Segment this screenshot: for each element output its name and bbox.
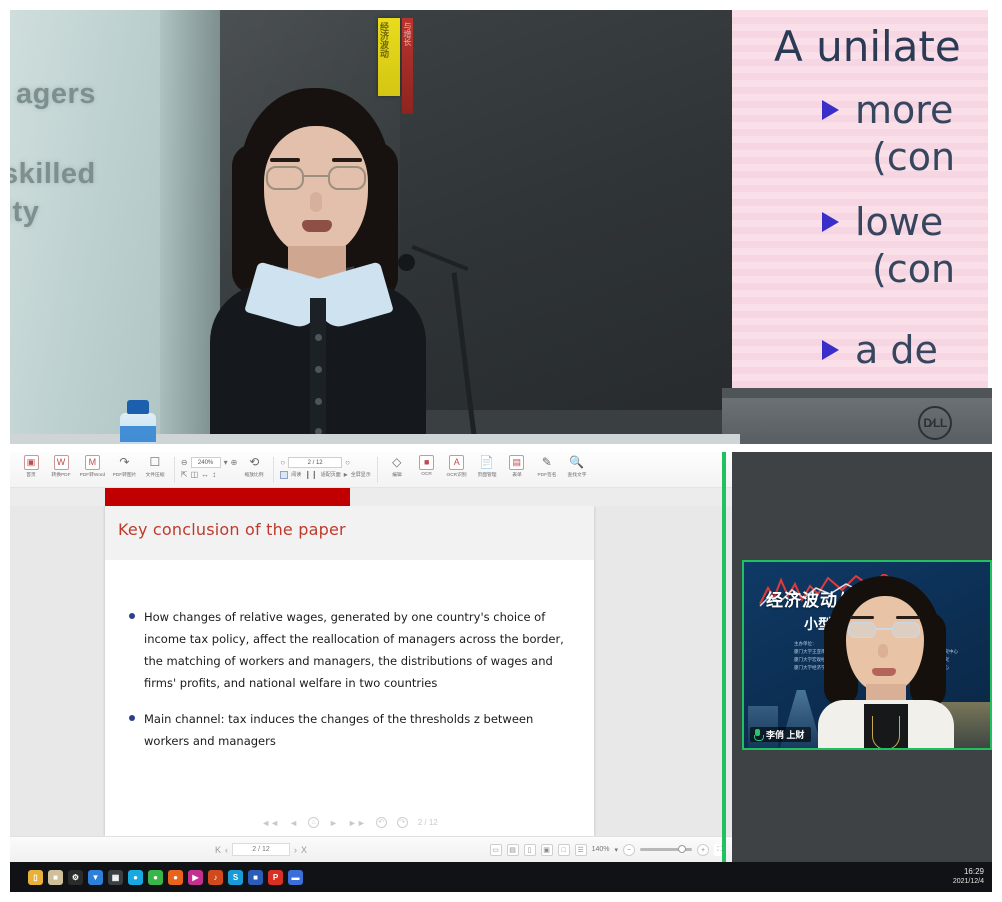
glasses-icon <box>848 622 922 638</box>
video-player-icon[interactable]: ▶ <box>188 870 203 885</box>
reflow-icon[interactable]: ▸ <box>344 469 348 480</box>
slide-bullet-list: How changes of relative wages, generated… <box>129 606 581 766</box>
toolbar-convert-pdf[interactable]: W 转换PDF <box>46 455 76 478</box>
slide-page-indicator: 2 / 12 <box>418 818 438 827</box>
view-mode-checkbox[interactable] <box>280 471 288 479</box>
nose <box>878 644 888 658</box>
security-icon[interactable]: ▼ <box>88 870 103 885</box>
page-input[interactable]: 2 / 12 <box>288 457 342 468</box>
facing-page-button[interactable]: ▯ <box>524 844 536 856</box>
mouth <box>872 668 896 676</box>
projection-edge <box>988 10 992 402</box>
toolbar-edit[interactable]: ◇ 编辑 <box>382 455 412 478</box>
slide-bullet: Main channel: tax induces the changes of… <box>129 708 581 752</box>
toolbar-form[interactable]: ▤ 表单 <box>502 455 532 478</box>
slide-bullet: How changes of relative wages, generated… <box>129 606 581 694</box>
glasses-bridge <box>304 175 328 177</box>
microphone-head-icon <box>398 254 415 271</box>
eyebrow-left <box>850 616 874 619</box>
triangle-bullet-icon <box>822 100 839 120</box>
nav-home-icon[interactable]: ⌂ <box>308 817 319 828</box>
next-page-button[interactable]: › <box>294 845 297 855</box>
single-page-button[interactable]: ▭ <box>490 844 502 856</box>
speaker-avatar <box>814 576 954 750</box>
toolbar-pdf-to-word[interactable]: M PDF转Word <box>76 455 109 478</box>
participant-name: 李俏 上财 <box>766 728 805 741</box>
pdf-reader-window: ▣ 首页 W 转换PDF M PDF转Word ↷ PDF转图片 ☐ 文件压 <box>10 452 732 862</box>
projected-bullet-3: a de <box>822 328 938 372</box>
nav-prev-icon[interactable]: ◄ <box>289 818 298 828</box>
projected-bullet-1-text: more <box>855 88 953 132</box>
toolbar-page-manage[interactable]: 📄 页面管理 <box>472 455 502 478</box>
fit-actual-icon[interactable]: ⇱ <box>181 469 188 480</box>
zoom-input[interactable]: 240% <box>191 457 221 468</box>
toolbar-compress-label: 文件压缩 <box>145 471 164 478</box>
toolbar-search[interactable]: 🔍 查找文字 <box>562 455 592 478</box>
nav-redo-icon[interactable]: ↷ <box>397 817 408 828</box>
slide-title: Key conclusion of the paper <box>118 520 346 539</box>
facing-continuous-button[interactable]: ▣ <box>541 844 553 856</box>
eyebrow-right <box>332 158 362 162</box>
ocr-icon: ■ <box>419 455 434 470</box>
face <box>264 126 368 254</box>
pdf-status-bar: K ‹ 2 / 12 › Х ▭ ▤ ▯ ▣ □ ☰ 140% ▾ − <box>10 836 732 862</box>
status-page-controls: K ‹ 2 / 12 › Х <box>215 843 307 856</box>
page-icon: 📄 <box>479 455 494 470</box>
active-speaker-video[interactable]: 经济波动与增长 小型研讨会2021 主办单位： 厦门大学王亚南经济研究院 厦门大… <box>742 560 992 750</box>
button-dot <box>315 398 322 405</box>
chrome-icon[interactable]: ● <box>148 870 163 885</box>
screenshare-green-edge <box>722 452 726 862</box>
toolbar-sign[interactable]: ✎ PDF签名 <box>532 455 562 478</box>
slide-page-nav: ◄◄ ◄ ⌂ ► ►► ↶ ↷ 2 / 12 <box>105 817 594 828</box>
skype-icon[interactable]: S <box>228 870 243 885</box>
view-mode-label: 阅读 <box>291 471 301 478</box>
toolbar-compress[interactable]: ☐ 文件压缩 <box>140 455 170 478</box>
pdf-to-img-icon: ↷ <box>117 455 132 470</box>
wall-projection-text-2: skilled <box>10 158 96 191</box>
slide-bullet-text: Main channel: tax induces the changes of… <box>144 708 581 752</box>
screenshot-root: agers skilled ity 经济波动 与增长 A unilate mor… <box>0 0 1002 902</box>
taskbar-icon-list: ▯ ■ ⚙ ▼ ▦ ● ● ● ▶ ♪ S ■ P ▬ <box>28 870 303 885</box>
lens-left <box>848 622 876 638</box>
button-dot <box>315 366 322 373</box>
projected-bullet-2-sub: (con <box>872 247 955 291</box>
search-icon: 🔍 <box>569 455 584 470</box>
toolbar-form-label: 表单 <box>512 471 522 478</box>
nose <box>310 192 322 212</box>
document-viewport[interactable]: Key conclusion of the paper How changes … <box>10 506 732 836</box>
zoom-out-icon[interactable]: ⊖ <box>181 457 188 468</box>
toolbar-edit-label: 编辑 <box>392 471 402 478</box>
prev-page-button[interactable]: ‹ <box>225 845 228 855</box>
projected-slide-title: A unilate <box>774 22 961 71</box>
form-icon: ▤ <box>509 455 524 470</box>
eyebrow-left <box>270 158 300 162</box>
dell-logo-icon: D∕LL <box>918 406 952 440</box>
office-icon[interactable]: ■ <box>248 870 263 885</box>
word-convert-icon: W <box>54 455 69 470</box>
status-page-input[interactable]: 2 / 12 <box>232 843 290 856</box>
projected-bullet-1: more <box>822 88 953 132</box>
settings-icon[interactable]: ⚙ <box>68 870 83 885</box>
toolbar-divider <box>174 457 175 483</box>
fit-width-button[interactable]: ☰ <box>575 844 587 856</box>
nav-first-icon[interactable]: ◄◄ <box>261 818 279 828</box>
chevron-down-icon[interactable]: ▾ <box>224 457 228 468</box>
toolbar-page-group: ○ 2 / 12 ○ 阅读 ❙❙ 适配页面 ▸ 全屏显示 <box>278 455 372 480</box>
red-highlight-band <box>105 488 350 506</box>
microphone-icon <box>753 729 762 741</box>
projected-bullet-2-text: lowe <box>855 200 943 244</box>
first-page-button[interactable]: K <box>215 845 221 855</box>
fit-height-icon[interactable]: ↕ <box>212 469 216 480</box>
lecture-room-photo: agers skilled ity 经济波动 与增长 A unilate mor… <box>10 10 992 444</box>
fit-page-icon[interactable]: ◫ <box>191 469 199 480</box>
zoom-slider[interactable] <box>640 848 692 851</box>
page-next-icon[interactable]: ○ <box>345 457 350 468</box>
projected-bullet-2: lowe <box>822 200 943 244</box>
toolbar-annotate-label: OCR识别 <box>447 471 467 478</box>
laptop: D∕LL <box>722 388 992 444</box>
media-icon[interactable]: ■ <box>48 870 63 885</box>
zoom-slider-knob[interactable] <box>678 845 686 853</box>
file-explorer-icon[interactable]: ▯ <box>28 870 43 885</box>
necklace <box>872 716 900 750</box>
toolbar-ocr-label: OCR <box>421 471 432 477</box>
home-icon: ▣ <box>24 455 39 470</box>
toolbar-divider <box>377 457 378 483</box>
reflow-label: 全屏显示 <box>351 471 371 478</box>
system-tray-clock[interactable]: 16:29 2021/12/4 <box>953 867 984 887</box>
pdf-reader-icon[interactable]: P <box>268 870 283 885</box>
triangle-bullet-icon <box>822 212 839 232</box>
bottle-label <box>120 426 156 442</box>
zoom-dropdown-icon[interactable]: ▾ <box>614 846 618 854</box>
chat-icon[interactable]: ● <box>128 870 143 885</box>
wall-projection-text-3: ity <box>10 196 39 229</box>
pdf-page: Key conclusion of the paper How changes … <box>105 506 594 836</box>
toolbar-ocr[interactable]: ■ OCR <box>412 455 442 477</box>
apps-grid-icon[interactable]: ▦ <box>108 870 123 885</box>
highlight-icon: ◇ <box>389 455 404 470</box>
glasses-icon <box>264 166 370 190</box>
fit-width-icon[interactable]: ↔ <box>201 469 209 480</box>
yellow-banner: 经济波动 <box>378 18 400 96</box>
annotate-icon: A <box>449 455 464 470</box>
wechat-icon[interactable]: ▬ <box>288 870 303 885</box>
page-prev-icon[interactable]: ○ <box>280 457 285 468</box>
laptop-lid <box>722 388 992 398</box>
zoom-in-button[interactable]: + <box>697 844 709 856</box>
clock-date: 2021/12/4 <box>953 877 984 887</box>
toolbar-rotate[interactable]: ⟲ 缩放比例 <box>239 455 269 478</box>
bullet-dot-icon <box>129 613 135 619</box>
triangle-bullet-icon <box>822 340 839 360</box>
continuous-page-button[interactable]: ▤ <box>507 844 519 856</box>
clock-time: 16:29 <box>953 867 984 877</box>
yellow-banner-text: 经济波动 <box>378 18 390 58</box>
music-icon[interactable]: ♪ <box>208 870 223 885</box>
last-page-button[interactable]: Х <box>301 845 307 855</box>
file-compress-icon: ☐ <box>147 455 162 470</box>
toolbar-divider <box>273 457 274 483</box>
toolbar-sign-label: PDF签名 <box>537 471 556 478</box>
participant-name-badge: 李俏 上财 <box>750 727 811 742</box>
fit-page-label: 适配页面 <box>321 471 341 478</box>
nav-last-icon[interactable]: ►► <box>348 818 366 828</box>
mouth <box>302 220 332 232</box>
pdf-to-word-icon: M <box>85 455 100 470</box>
eyebrow-right <box>896 616 920 619</box>
toolbar-search-label: 查找文字 <box>567 471 586 478</box>
firefox-icon[interactable]: ● <box>168 870 183 885</box>
fit-page-button[interactable]: □ <box>558 844 570 856</box>
slide-bullet-text: How changes of relative wages, generated… <box>144 606 581 694</box>
toolbar-home[interactable]: ▣ 首页 <box>16 455 46 478</box>
toolbar-pdf-to-image-label: PDF转图片 <box>112 471 136 478</box>
red-banner-text: 与增长 <box>402 18 413 46</box>
status-view-controls: ▭ ▤ ▯ ▣ □ ☰ 140% ▾ − + ⛶ <box>490 844 726 856</box>
projected-slide: A unilate more (con lowe (con a de <box>732 10 992 402</box>
water-bottle <box>116 400 160 444</box>
lens-right <box>328 166 366 190</box>
toolbar-home-label: 首页 <box>26 471 36 478</box>
lens-left <box>266 166 304 190</box>
shared-screen-region: ▣ 首页 W 转换PDF M PDF转Word ↷ PDF转图片 ☐ 文件压 <box>10 452 992 892</box>
bottle-cap <box>127 400 149 414</box>
facing-pages-icon[interactable]: ❙❙ <box>304 469 317 480</box>
button-dot <box>315 334 322 341</box>
toolbar-page-manage-label: 页面管理 <box>477 471 496 478</box>
zoom-out-button[interactable]: − <box>623 844 635 856</box>
ribbon-strip <box>10 488 732 506</box>
toolbar-pdf-to-word-label: PDF转Word <box>80 471 106 478</box>
pdf-toolbar: ▣ 首页 W 转换PDF M PDF转Word ↷ PDF转图片 ☐ 文件压 <box>10 452 732 488</box>
toolbar-rotate-label: 缩放比例 <box>245 471 264 478</box>
rotate-icon: ⟲ <box>247 455 262 470</box>
projected-bullet-1-sub: (con <box>872 135 955 179</box>
lens-right <box>892 622 920 638</box>
bullet-dot-icon <box>129 715 135 721</box>
nav-undo-icon[interactable]: ↶ <box>376 817 387 828</box>
video-panel: 经济波动与增长 小型研讨会2021 主办单位： 厦门大学王亚南经济研究院 厦门大… <box>732 452 992 892</box>
toolbar-convert-pdf-label: 转换PDF <box>51 471 70 478</box>
wall-projection-text-1: agers <box>16 78 96 111</box>
glasses-bridge <box>875 628 893 630</box>
status-zoom-value[interactable]: 140% <box>592 846 610 853</box>
windows-taskbar: ▯ ■ ⚙ ▼ ▦ ● ● ● ▶ ♪ S ■ P ▬ 16:29 2021/1… <box>10 862 992 892</box>
nav-next-icon[interactable]: ► <box>329 818 338 828</box>
projected-bullet-3-text: a de <box>855 328 938 372</box>
toolbar-zoom-group: ⊖ 240% ▾ ⊕ ⇱ ◫ ↔ ↕ <box>179 455 239 480</box>
sign-icon: ✎ <box>539 455 554 470</box>
toolbar-pdf-to-image[interactable]: ↷ PDF转图片 <box>109 455 140 478</box>
zoom-in-icon[interactable]: ⊕ <box>231 457 238 468</box>
toolbar-annotate[interactable]: A OCR识别 <box>442 455 472 478</box>
